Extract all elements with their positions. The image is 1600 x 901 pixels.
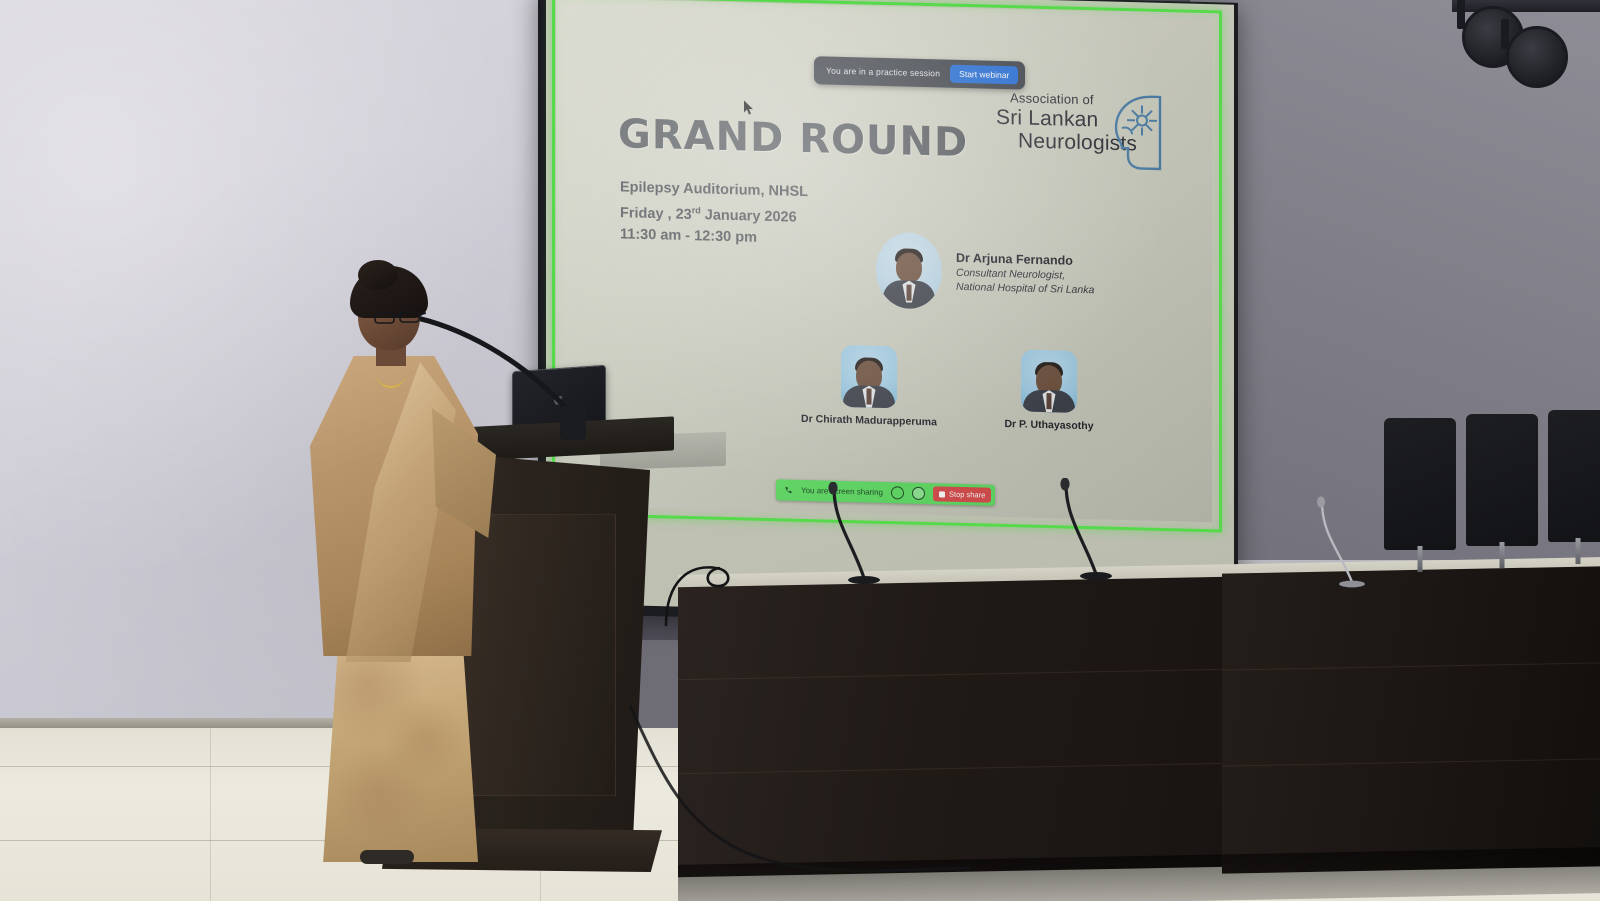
gooseneck-microphone-icon — [1046, 478, 1116, 588]
head-table-front-panel-right — [1222, 566, 1600, 873]
secondary-speakers-row: Dr Chirath Madurapperuma Dr P. Uthayasot… — [794, 344, 1124, 433]
start-webinar-button[interactable]: Start webinar — [950, 65, 1018, 85]
stop-share-label: Stop share — [949, 490, 985, 500]
eyeglasses-icon — [374, 310, 426, 326]
main-speaker-affiliation: National Hospital of Sri Lanka — [956, 281, 1094, 297]
gooseneck-microphone-icon — [812, 482, 882, 592]
speaker-avatar — [841, 345, 897, 408]
stop-square-icon — [939, 491, 945, 497]
main-speaker-block: Dr Arjuna Fernando Consultant Neurologis… — [876, 232, 1094, 314]
speaker-name: Dr P. Uthayasothy — [974, 417, 1124, 433]
main-speaker-name: Dr Arjuna Fernando — [956, 251, 1094, 269]
stop-share-button[interactable]: Stop share — [933, 486, 991, 502]
speaker-card: Dr P. Uthayasothy — [974, 348, 1124, 433]
presenter-saree-skirt — [320, 634, 478, 862]
main-speaker-role: Consultant Neurologist, — [956, 267, 1094, 283]
annotate-icon[interactable] — [912, 487, 925, 500]
asln-logo: Association of Sri Lankan Neurologists — [996, 89, 1176, 186]
presenter-shoe — [360, 850, 414, 864]
presenter-hair-bun — [358, 260, 398, 290]
screen-share-toolbar: You are screen sharing Stop share — [776, 479, 995, 506]
head-brain-icon — [1102, 92, 1174, 174]
pause-share-icon[interactable] — [891, 486, 904, 499]
mouse-cursor-icon — [744, 100, 754, 114]
slide-subtitle-block: Epilepsy Auditorium, NHSL Friday , 23rd … — [620, 177, 808, 250]
floor-cable — [620, 700, 980, 880]
stage-light-icon — [1506, 26, 1568, 88]
lighting-truss — [1452, 0, 1600, 12]
speaker-name: Dr Chirath Madurapperuma — [794, 413, 944, 429]
slide-title: GRAND ROUND — [618, 111, 968, 166]
speaker-card: Dr Chirath Madurapperuma — [794, 344, 944, 429]
chair — [1384, 418, 1456, 550]
chair — [1548, 410, 1600, 542]
main-speaker-meta: Dr Arjuna Fernando Consultant Neurologis… — [956, 251, 1094, 297]
table-cable — [660, 540, 780, 630]
practice-session-toolbar: You are in a practice session Start webi… — [814, 56, 1025, 89]
main-speaker-avatar — [876, 232, 942, 310]
gooseneck-microphone-icon — [1306, 496, 1376, 606]
auditorium-photo: You are in a practice session Start webi… — [0, 0, 1600, 901]
speaker-avatar — [1021, 349, 1077, 412]
chair — [1466, 414, 1538, 546]
practice-session-label: You are in a practice session — [826, 66, 940, 79]
presenter — [296, 258, 506, 858]
phone-icon[interactable] — [784, 485, 793, 494]
